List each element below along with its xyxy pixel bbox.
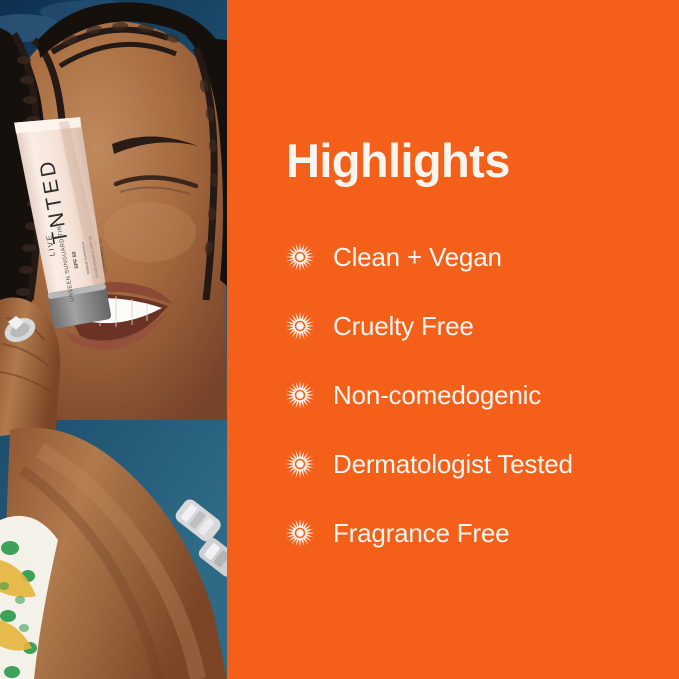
list-item-label: Dermatologist Tested <box>333 451 573 477</box>
product-highlights-graphic: TNTED LIVE UNSEEN SUNGUARD TINT SPF 50 m… <box>0 0 679 679</box>
list-item: Fragrance Free <box>227 498 679 567</box>
lifestyle-photo: TNTED LIVE UNSEEN SUNGUARD TINT SPF 50 m… <box>0 0 227 679</box>
highlights-panel: Highlights <box>227 0 679 679</box>
sunburst-icon <box>285 449 315 479</box>
page-title: Highlights <box>286 137 510 184</box>
list-item-label: Cruelty Free <box>333 313 474 339</box>
list-item: Dermatologist Tested <box>227 429 679 498</box>
highlights-list: Clean + Vegan <box>227 222 679 567</box>
sunburst-icon <box>285 518 315 548</box>
list-item-label: Non-comedogenic <box>333 382 541 408</box>
sunburst-icon <box>285 311 315 341</box>
lifestyle-photo-illustration: TNTED LIVE UNSEEN SUNGUARD TINT SPF 50 m… <box>0 0 227 679</box>
sunburst-icon <box>285 242 315 272</box>
list-item-label: Clean + Vegan <box>333 244 502 270</box>
list-item: Cruelty Free <box>227 291 679 360</box>
list-item: Clean + Vegan <box>227 222 679 291</box>
list-item-label: Fragrance Free <box>333 520 509 546</box>
sunburst-icon <box>285 380 315 410</box>
list-item: Non-comedogenic <box>227 360 679 429</box>
